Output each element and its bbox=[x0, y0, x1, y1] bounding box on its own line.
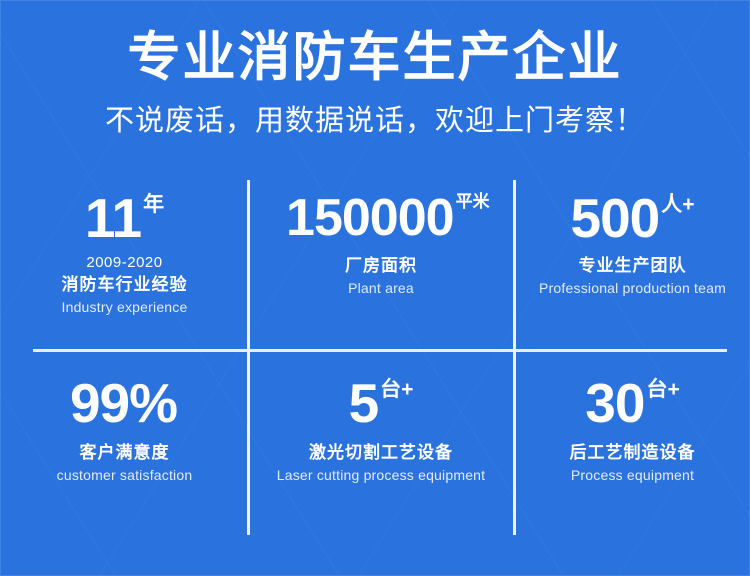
stat-label-en: Industry experience bbox=[62, 298, 188, 316]
stat-number: 30 bbox=[585, 372, 644, 434]
stats-section: 11 年 2009-2020 消防车行业经验 Industry experien… bbox=[1, 181, 749, 549]
stat-number: 99% bbox=[70, 372, 177, 434]
stat-cell: 5 台+ 激光切割工艺设备 Laser cutting process equi… bbox=[248, 350, 514, 549]
stat-number-line: 500 人+ bbox=[570, 187, 694, 249]
stat-number-line: 30 台+ bbox=[585, 372, 679, 434]
stat-number-line: 99% bbox=[70, 372, 179, 434]
stat-unit: 台+ bbox=[380, 378, 413, 402]
stat-label-en: Plant area bbox=[348, 279, 414, 297]
stat-unit: 人+ bbox=[661, 193, 694, 217]
stats-grid: 11 年 2009-2020 消防车行业经验 Industry experien… bbox=[1, 181, 749, 549]
stat-cell: 500 人+ 专业生产团队 Professional production te… bbox=[514, 181, 750, 350]
stat-number-line: 5 台+ bbox=[349, 372, 414, 434]
divider-vertical-right bbox=[513, 180, 516, 535]
stat-number: 5 bbox=[349, 372, 379, 434]
stat-cell: 150000 平米 厂房面积 Plant area bbox=[248, 181, 514, 350]
stat-cell: 11 年 2009-2020 消防车行业经验 Industry experien… bbox=[1, 181, 248, 350]
stat-number-line: 11 年 bbox=[85, 187, 164, 249]
stat-label-en: Professional production team bbox=[539, 279, 726, 297]
stat-label-cn: 厂房面积 bbox=[345, 255, 417, 277]
stat-number: 11 bbox=[85, 187, 141, 249]
banner-header: 专业消防车生产企业 不说废话，用数据说话，欢迎上门考察！ bbox=[1, 1, 749, 141]
stat-label-en: customer satisfaction bbox=[57, 466, 193, 484]
stat-cell: 99% 客户满意度 customer satisfaction bbox=[1, 350, 248, 549]
stat-label-en: Laser cutting process equipment bbox=[277, 466, 486, 484]
promo-banner: 专业消防车生产企业 不说废话，用数据说话，欢迎上门考察！ 11 年 2009-2… bbox=[0, 0, 750, 576]
stat-subnote: 2009-2020 bbox=[86, 253, 162, 272]
stat-unit: 平米 bbox=[456, 192, 476, 211]
stat-cell: 30 台+ 后工艺制造设备 Process equipment bbox=[514, 350, 750, 549]
stat-unit: 台+ bbox=[646, 378, 679, 402]
stat-label-cn: 专业生产团队 bbox=[579, 255, 687, 277]
page-title: 专业消防车生产企业 bbox=[1, 27, 749, 89]
stat-number: 150000 bbox=[286, 187, 454, 249]
banner-content: 专业消防车生产企业 不说废话，用数据说话，欢迎上门考察！ 11 年 2009-2… bbox=[1, 1, 749, 575]
stat-number-line: 150000 平米 bbox=[286, 187, 476, 249]
stat-label-en: Process equipment bbox=[571, 466, 694, 484]
stat-label-cn: 后工艺制造设备 bbox=[570, 442, 696, 464]
page-subtitle: 不说废话，用数据说话，欢迎上门考察！ bbox=[1, 101, 749, 141]
stat-label-cn: 消防车行业经验 bbox=[62, 274, 188, 296]
stat-unit: 年 bbox=[143, 193, 164, 217]
divider-horizontal bbox=[33, 349, 727, 352]
stat-number: 500 bbox=[570, 187, 659, 249]
stat-label-cn: 激光切割工艺设备 bbox=[309, 442, 453, 464]
divider-vertical-left bbox=[247, 180, 250, 535]
stat-label-cn: 客户满意度 bbox=[80, 442, 170, 464]
